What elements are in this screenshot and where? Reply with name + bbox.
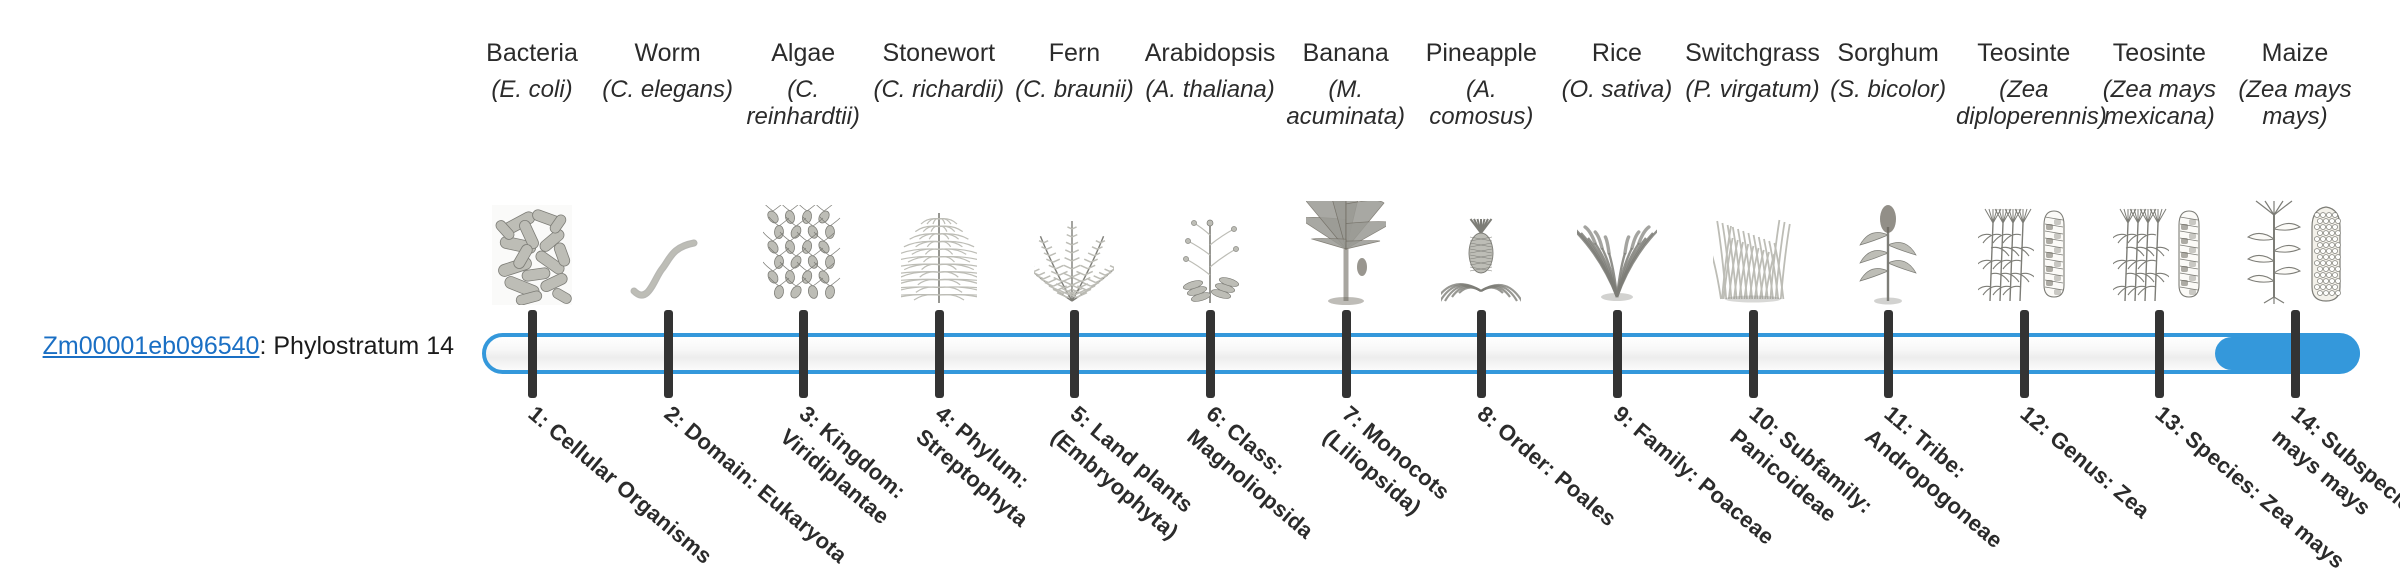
species-column: Teosinte(Zea mays mexicana)13: Species: …: [2092, 0, 2228, 580]
species-latin-name: (C. elegans): [600, 76, 736, 103]
species-common-name: Bacteria: [464, 38, 600, 68]
species-column: Switchgrass(P. virgatum)10: Subfamily: P…: [1685, 0, 1821, 580]
species-latin-name: (C. richardii): [871, 76, 1007, 103]
teosinte-illustration: [1956, 160, 2092, 305]
species-column: Worm(C. elegans)2: Domain: Eukaryota: [600, 0, 736, 580]
species-common-name: Sorghum: [1820, 38, 1956, 68]
phylostratum-figure: Zm00001eb096540: Phylostratum 14 Bacteri…: [0, 0, 2400, 580]
species-latin-name: (Zea mays mays): [2227, 76, 2363, 130]
gene-id-link[interactable]: Zm00001eb096540: [43, 332, 260, 360]
species-column: Algae(C. reinhardtii)3: Kingdom: Viridip…: [735, 0, 871, 580]
species-column: Arabidopsis(A. thaliana)6: Class: Magnol…: [1142, 0, 1278, 580]
species-common-name: Banana: [1278, 38, 1414, 68]
species-common-name: Algae: [735, 38, 871, 68]
phylostratum-tick: [664, 310, 673, 398]
species-common-name: Fern: [1007, 38, 1143, 68]
maize-illustration: [2227, 160, 2363, 305]
species-common-name: Rice: [1549, 38, 1685, 68]
gene-label-separator: :: [259, 332, 273, 360]
banana-illustration: [1278, 160, 1414, 305]
species-common-name: Pineapple: [1414, 38, 1550, 68]
species-latin-name: (C. reinhardtii): [735, 76, 871, 130]
stonewort-illustration: [871, 160, 1007, 305]
phylostratum-rank-label: 14: Subspecies: Zea mays mays: [2265, 399, 2400, 580]
arabidopsis-illustration: [1142, 160, 1278, 305]
phylostratum-tick: [528, 310, 537, 398]
species-latin-name: (A. comosus): [1414, 76, 1550, 130]
phylostratum-tick: [1613, 310, 1622, 398]
species-column: Teosinte(Zea diploperennis)12: Genus: Ze…: [1956, 0, 2092, 580]
species-latin-name: (O. sativa): [1549, 76, 1685, 103]
species-common-name: Switchgrass: [1685, 38, 1821, 68]
phylostratum-tick: [2291, 310, 2300, 398]
worm-illustration: [600, 160, 736, 305]
species-column: Bacteria(E. coli)1: Cellular Organisms: [464, 0, 600, 580]
rice-illustration: [1549, 160, 1685, 305]
phylostratum-tick: [1070, 310, 1079, 398]
species-column: Banana(M. acuminata)7: Monocots (Liliops…: [1278, 0, 1414, 580]
species-latin-name: (Zea mays mexicana): [2092, 76, 2228, 130]
sorghum-illustration: [1820, 160, 1956, 305]
phylostratum-tick: [799, 310, 808, 398]
species-latin-name: (A. thaliana): [1142, 76, 1278, 103]
fern-illustration: [1007, 160, 1143, 305]
species-common-name: Teosinte: [1956, 38, 2092, 68]
phylostratum-tick: [1749, 310, 1758, 398]
phylostratum-tick: [1342, 310, 1351, 398]
switchgrass-illustration: [1685, 160, 1821, 305]
species-column: Maize(Zea mays mays)14: Subspecies: Zea …: [2227, 0, 2363, 580]
phylostratum-tick: [2020, 310, 2029, 398]
species-column: Stonewort(C. richardii)4: Phylum: Strept…: [871, 0, 1007, 580]
phylostratum-tick: [1884, 310, 1893, 398]
gene-phylostratum-label: Zm00001eb096540: Phylostratum 14: [0, 330, 470, 362]
species-columns: Bacteria(E. coli)1: Cellular OrganismsWo…: [482, 0, 2360, 580]
phylostratum-text: Phylostratum 14: [273, 332, 454, 360]
species-common-name: Teosinte: [2092, 38, 2228, 68]
teosinte-illustration: [2092, 160, 2228, 305]
species-latin-name: (E. coli): [464, 76, 600, 103]
phylostratum-tick: [1477, 310, 1486, 398]
bacteria-illustration: [464, 160, 600, 305]
species-latin-name: (Zea diploperennis): [1956, 76, 2092, 130]
species-common-name: Stonewort: [871, 38, 1007, 68]
species-latin-name: (M. acuminata): [1278, 76, 1414, 130]
species-column: Sorghum(S. bicolor)11: Tribe: Andropogon…: [1820, 0, 1956, 580]
phylostratum-tick: [935, 310, 944, 398]
pineapple-illustration: [1414, 160, 1550, 305]
species-common-name: Arabidopsis: [1142, 38, 1278, 68]
phylostratum-tick: [2155, 310, 2164, 398]
species-common-name: Worm: [600, 38, 736, 68]
species-column: Fern(C. braunii)5: Land plants (Embryoph…: [1007, 0, 1143, 580]
algae-illustration: [735, 160, 871, 305]
phylostratum-tick: [1206, 310, 1215, 398]
species-latin-name: (C. braunii): [1007, 76, 1143, 103]
species-latin-name: (S. bicolor): [1820, 76, 1956, 103]
species-column: Pineapple(A. comosus)8: Order: Poales: [1414, 0, 1550, 580]
species-common-name: Maize: [2227, 38, 2363, 68]
species-column: Rice(O. sativa)9: Family: Poaceae: [1549, 0, 1685, 580]
species-latin-name: (P. virgatum): [1685, 76, 1821, 103]
